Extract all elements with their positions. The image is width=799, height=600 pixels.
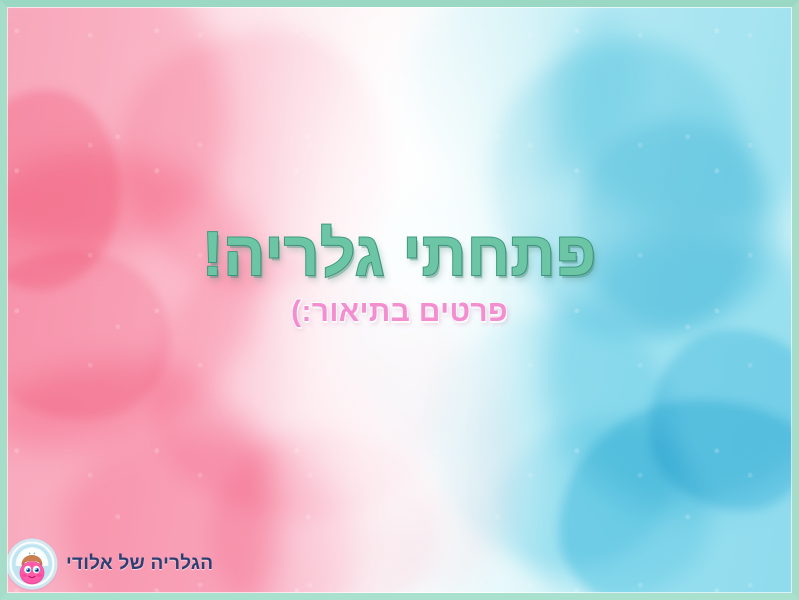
brand-label: הגלריה של אלודי — [66, 553, 213, 575]
watercolor-background — [0, 0, 799, 600]
background-paper-grain — [0, 0, 799, 600]
gallery-announcement-slide: פתחתי גלריה! פרטים בתיאור:) — [0, 0, 799, 600]
footer-branding: הגלריה של אלודי — [8, 540, 213, 588]
pink-character-avatar-icon — [8, 540, 56, 588]
